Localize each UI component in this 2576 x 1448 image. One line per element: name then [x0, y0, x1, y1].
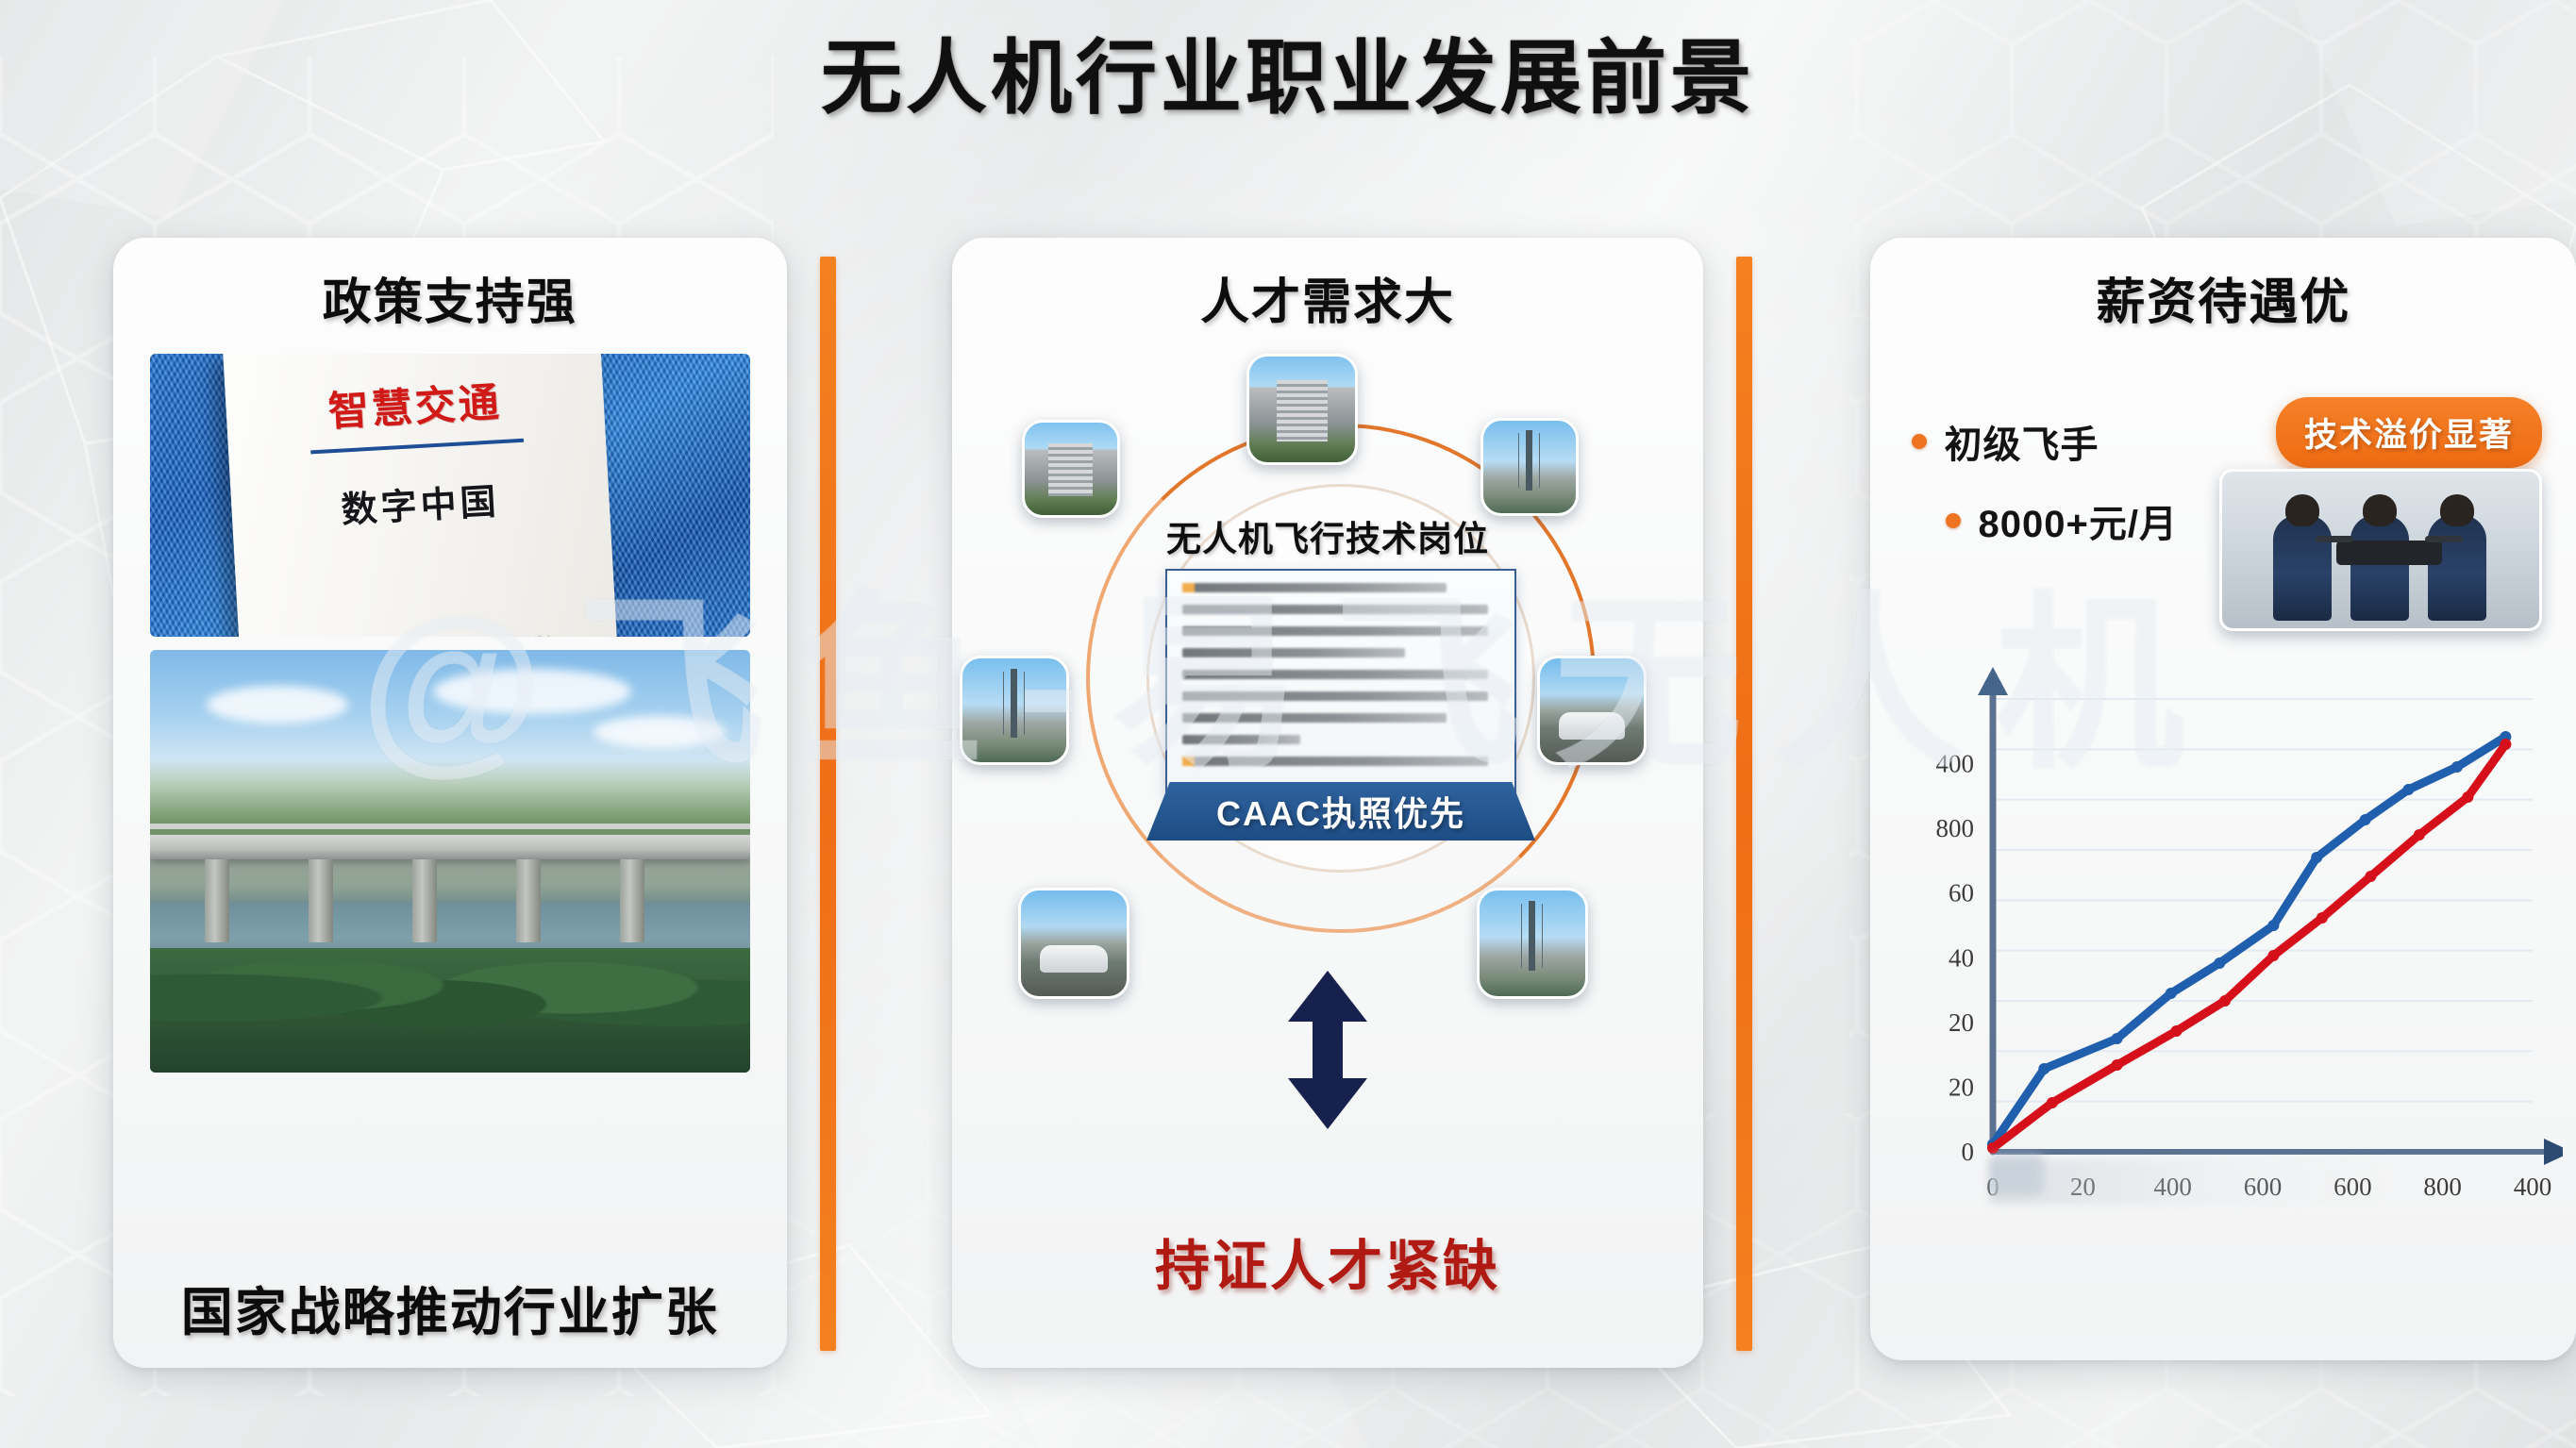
book-footnote: 中国智慧交通产业发展报告 交通强国建设纲要配套读本: [240, 631, 617, 637]
panel-demand-header: 人才需求大: [952, 238, 1703, 333]
doc-text-line: [1182, 605, 1488, 614]
job-description-card: [1165, 569, 1516, 797]
double-arrow-vertical-icon: [1280, 967, 1375, 1138]
treeline: [150, 948, 750, 1073]
cloud-shape: [433, 669, 631, 714]
doc-text-line: [1182, 626, 1488, 636]
technician-figure: [2428, 515, 2486, 621]
thumb-power-tower-right[interactable]: [1480, 418, 1579, 516]
bridge-pier: [412, 859, 437, 942]
thumb-highway-car-right[interactable]: [1537, 656, 1647, 765]
bullet-dot-icon: [1912, 434, 1927, 449]
salary-growth-chart: 020204060800400020400600600800400: [1902, 661, 2563, 1246]
svg-text:60: 60: [1949, 879, 1974, 907]
doc-text-line: [1182, 648, 1405, 657]
bullet-dot-icon: [1946, 513, 1961, 528]
doc-text-line: [1182, 713, 1447, 723]
doc-text-line: [1182, 583, 1447, 592]
panels-row: 政策支持强 智慧交通 数字中国 中国智慧交通产业发展报告 交通强国建设纲要配套读…: [0, 238, 2576, 1372]
book-subtitle: 数字中国: [230, 466, 610, 539]
bridge-pier: [205, 859, 229, 942]
policy-book-photo: 智慧交通 数字中国 中国智慧交通产业发展报告 交通强国建设纲要配套读本: [150, 354, 750, 637]
cloud-shape: [207, 686, 348, 724]
salary-bullet-list: 初级飞手 8000+元/月: [1912, 414, 2177, 573]
blurred-footer-artifact: [1989, 1159, 2395, 1205]
page-title: 无人机行业职业发展前景: [0, 11, 2576, 129]
salary-body: 初级飞手 8000+元/月 技术溢价显著 0202040608004000204…: [1870, 333, 2576, 1360]
svg-text:20: 20: [1949, 1073, 1974, 1101]
caac-license-banner-label: CAAC执照优先: [1216, 787, 1465, 836]
technician-figure: [2273, 515, 2332, 621]
panel-demand-bottom-text: 持证人才紧缺: [952, 1222, 1703, 1301]
panel-demand: 人才需求大 无人机飞行技术岗位: [952, 238, 1703, 1368]
panel-policy: 政策支持强 智慧交通 数字中国 中国智慧交通产业发展报告 交通强国建设纲要配套读…: [113, 238, 787, 1368]
svg-text:400: 400: [2514, 1173, 2552, 1201]
bridge-pier: [516, 859, 541, 942]
panel-policy-header: 政策支持强: [113, 238, 787, 333]
technicians-with-drone-photo: [2219, 469, 2542, 631]
bridge-pier: [309, 859, 333, 942]
svg-text:0: 0: [1962, 1138, 1975, 1166]
thumb-transmission-line-bottom-right[interactable]: [1477, 888, 1588, 999]
salary-bullet-label: 8000+元/月: [1978, 493, 2177, 548]
doc-text-line: [1182, 691, 1488, 701]
railway-bridge-photo: [150, 650, 750, 1073]
thumb-white-car-bottom-left[interactable]: [1018, 888, 1129, 999]
thumb-city-block-top[interactable]: [1246, 354, 1358, 465]
doc-text-line: [1182, 670, 1488, 679]
thumb-wind-turbine-left[interactable]: [960, 656, 1069, 765]
technician-figure: [2350, 515, 2409, 621]
book-rule: [310, 439, 524, 455]
tech-premium-badge-label: 技术溢价显著: [2304, 417, 2514, 454]
svg-text:40: 40: [1949, 943, 1974, 972]
demand-diagram: 无人机飞行技术岗位 CAAC执照优先 持证人才紧缺: [952, 333, 1703, 1333]
drone-icon: [2336, 541, 2442, 565]
svg-text:20: 20: [1949, 1008, 1974, 1037]
bridge-deck: [150, 835, 750, 859]
divider-1: [820, 257, 836, 1351]
bridge-pier: [620, 859, 644, 942]
svg-text:800: 800: [1936, 814, 1975, 842]
center-title: 无人机飞行技术岗位: [952, 510, 1703, 561]
tech-premium-badge: 技术溢价显著: [2276, 397, 2542, 468]
panel-salary: 薪资待遇优 初级飞手 8000+元/月 技术溢价显著: [1870, 238, 2576, 1360]
book-title: 智慧交通: [225, 364, 605, 443]
divider-2: [1736, 257, 1752, 1351]
salary-bullet-item: 8000+元/月: [1946, 493, 2177, 548]
caac-license-banner: CAAC执照优先: [1146, 782, 1535, 841]
svg-text:400: 400: [1936, 750, 1975, 778]
salary-bullet-label: 初级飞手: [1944, 414, 2099, 469]
panel-policy-caption: 国家战略推动行业扩张: [113, 1270, 787, 1345]
salary-bullet-item: 初级飞手: [1912, 414, 2177, 469]
panel-salary-header: 薪资待遇优: [1870, 238, 2576, 333]
svg-text:800: 800: [2424, 1173, 2463, 1201]
doc-text-line: [1182, 757, 1488, 766]
bridge-railing: [150, 824, 750, 829]
book-cover: 智慧交通 数字中国 中国智慧交通产业发展报告 交通强国建设纲要配套读本: [223, 354, 617, 637]
thumb-apartment-left[interactable]: [1022, 420, 1120, 518]
doc-text-line: [1182, 735, 1300, 744]
cloud-shape: [594, 716, 726, 748]
